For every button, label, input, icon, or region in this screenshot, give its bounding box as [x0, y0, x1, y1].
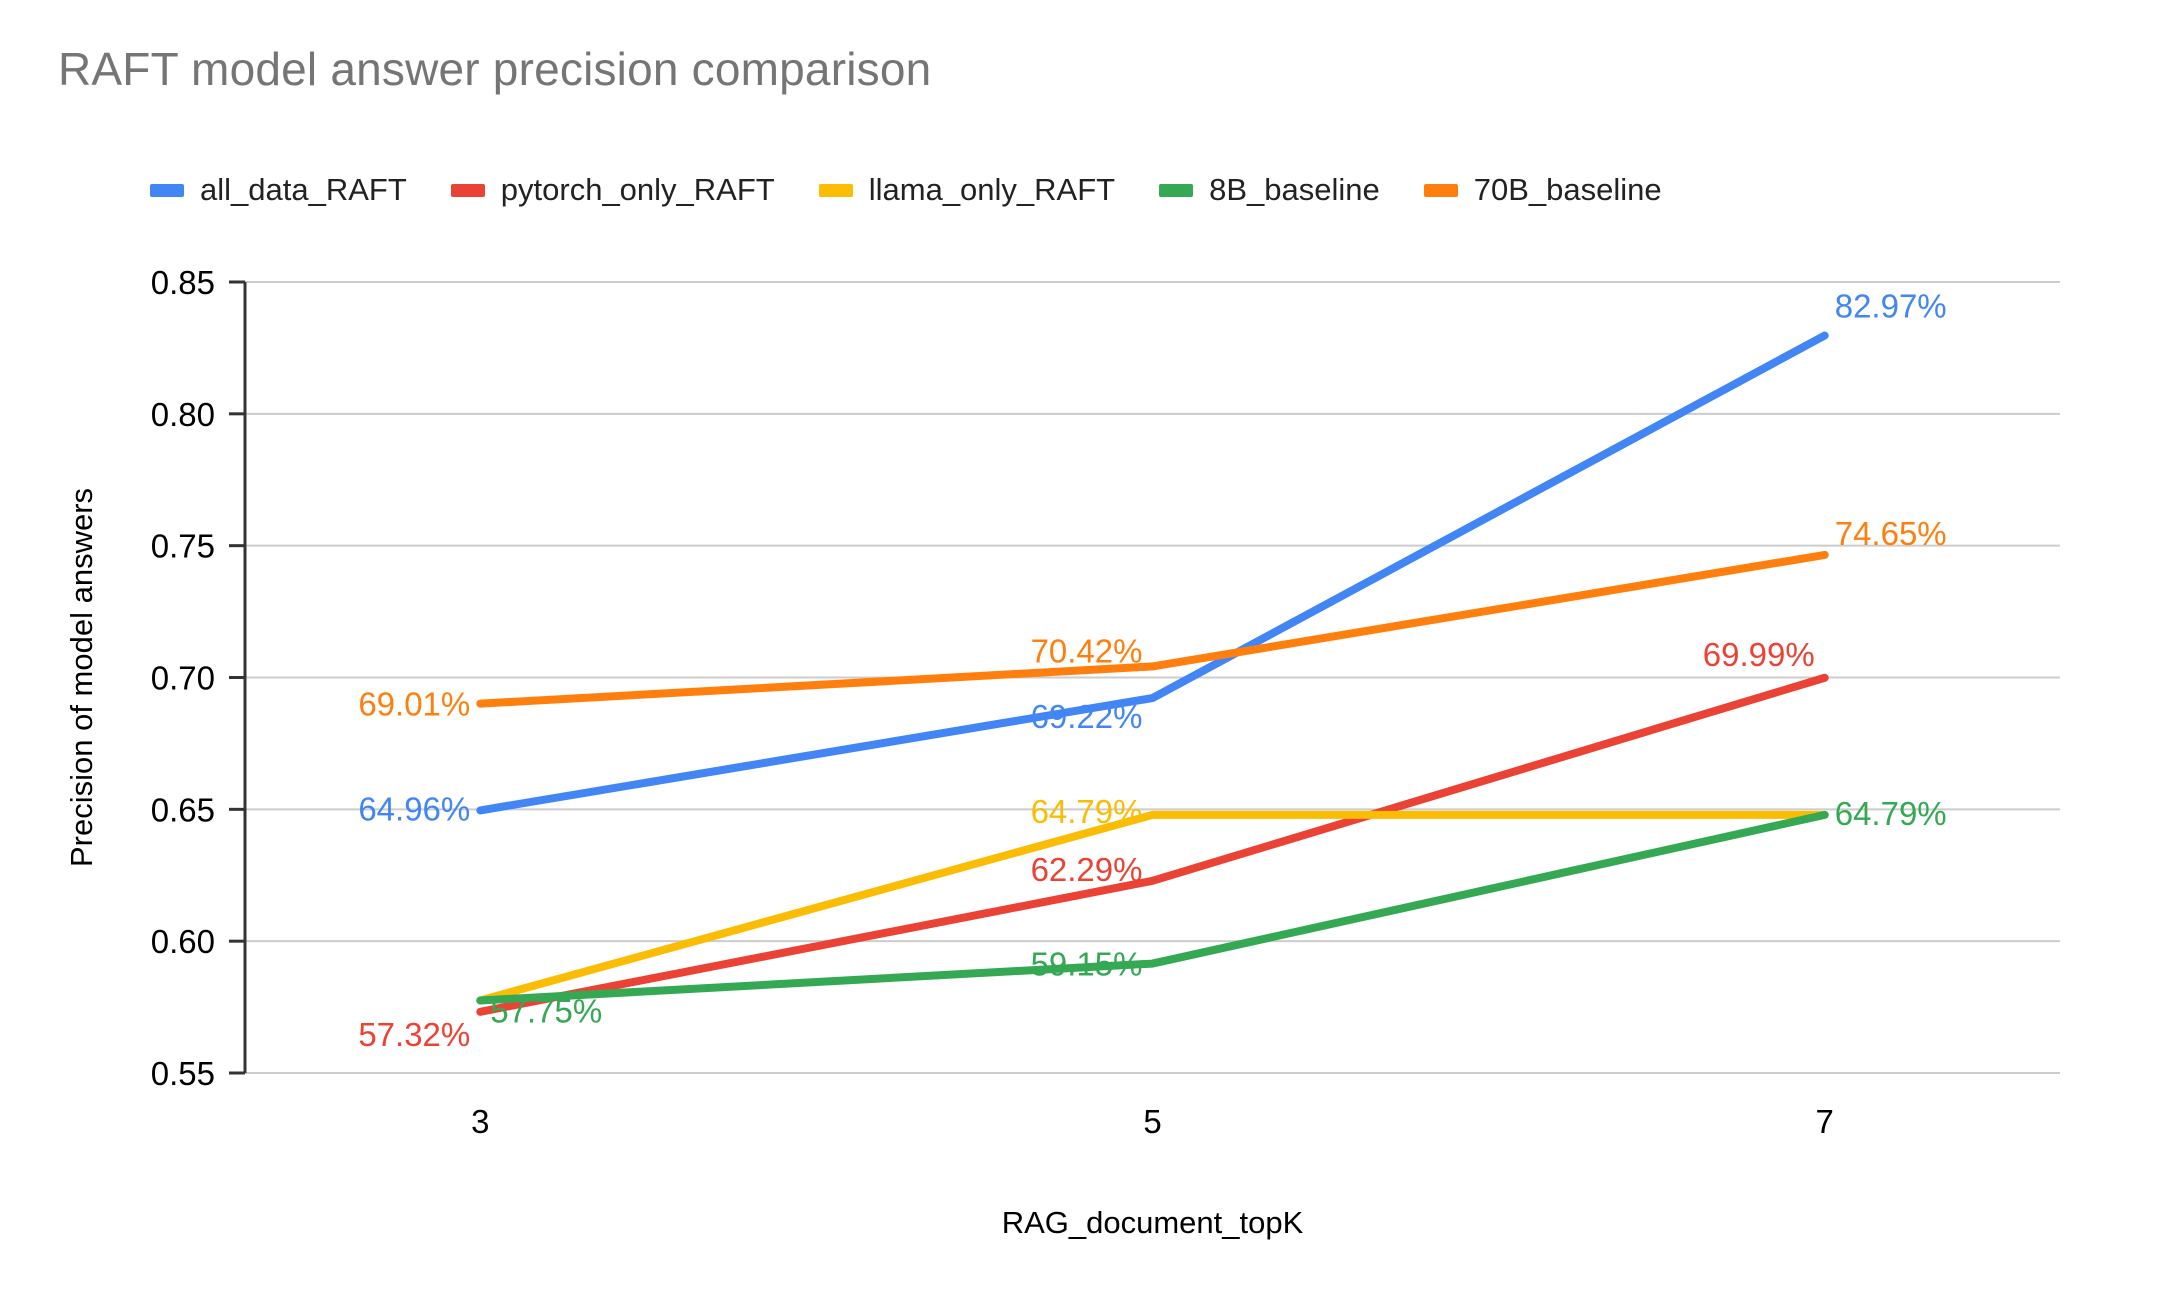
x-tick-label: 7: [1816, 1103, 1834, 1140]
y-tick-label: 0.70: [151, 660, 215, 697]
x-tick-label: 3: [471, 1103, 489, 1140]
data-label-8B_baseline-7: 64.79%: [1835, 795, 1947, 832]
data-label-pytorch_only_RAFT-5: 62.29%: [1031, 851, 1143, 888]
chart-container: RAFT model answer precision comparison a…: [0, 0, 2164, 1294]
y-tick-label: 0.85: [151, 264, 215, 301]
data-label-70B_baseline-7: 74.65%: [1835, 515, 1947, 552]
y-tick-label: 0.80: [151, 396, 215, 433]
series-line-70B_baseline[interactable]: [480, 555, 1824, 704]
line-chart-plot: 0.550.600.650.700.750.800.85357RAG_docum…: [0, 0, 2164, 1294]
data-label-all_data_RAFT-5: 69.22%: [1031, 698, 1143, 735]
y-tick-label: 0.55: [151, 1055, 215, 1092]
data-label-70B_baseline-3: 69.01%: [358, 686, 470, 723]
data-label-all_data_RAFT-7: 82.97%: [1835, 288, 1947, 325]
data-label-8B_baseline-5: 59.15%: [1031, 946, 1143, 983]
data-label-70B_baseline-5: 70.42%: [1031, 632, 1143, 669]
data-label-8B_baseline-3: 57.75%: [490, 992, 602, 1029]
x-axis-title: RAG_document_topK: [1002, 1205, 1304, 1240]
data-label-pytorch_only_RAFT-3: 57.32%: [358, 1016, 470, 1053]
x-tick-label: 5: [1143, 1103, 1161, 1140]
data-label-pytorch_only_RAFT-7: 69.99%: [1703, 636, 1815, 673]
y-axis-title: Precision of model answers: [64, 488, 99, 867]
data-label-llama_only_RAFT-5: 64.79%: [1031, 793, 1143, 830]
y-tick-label: 0.75: [151, 528, 215, 565]
data-label-all_data_RAFT-3: 64.96%: [358, 790, 470, 827]
y-tick-label: 0.60: [151, 923, 215, 960]
y-tick-label: 0.65: [151, 791, 215, 828]
